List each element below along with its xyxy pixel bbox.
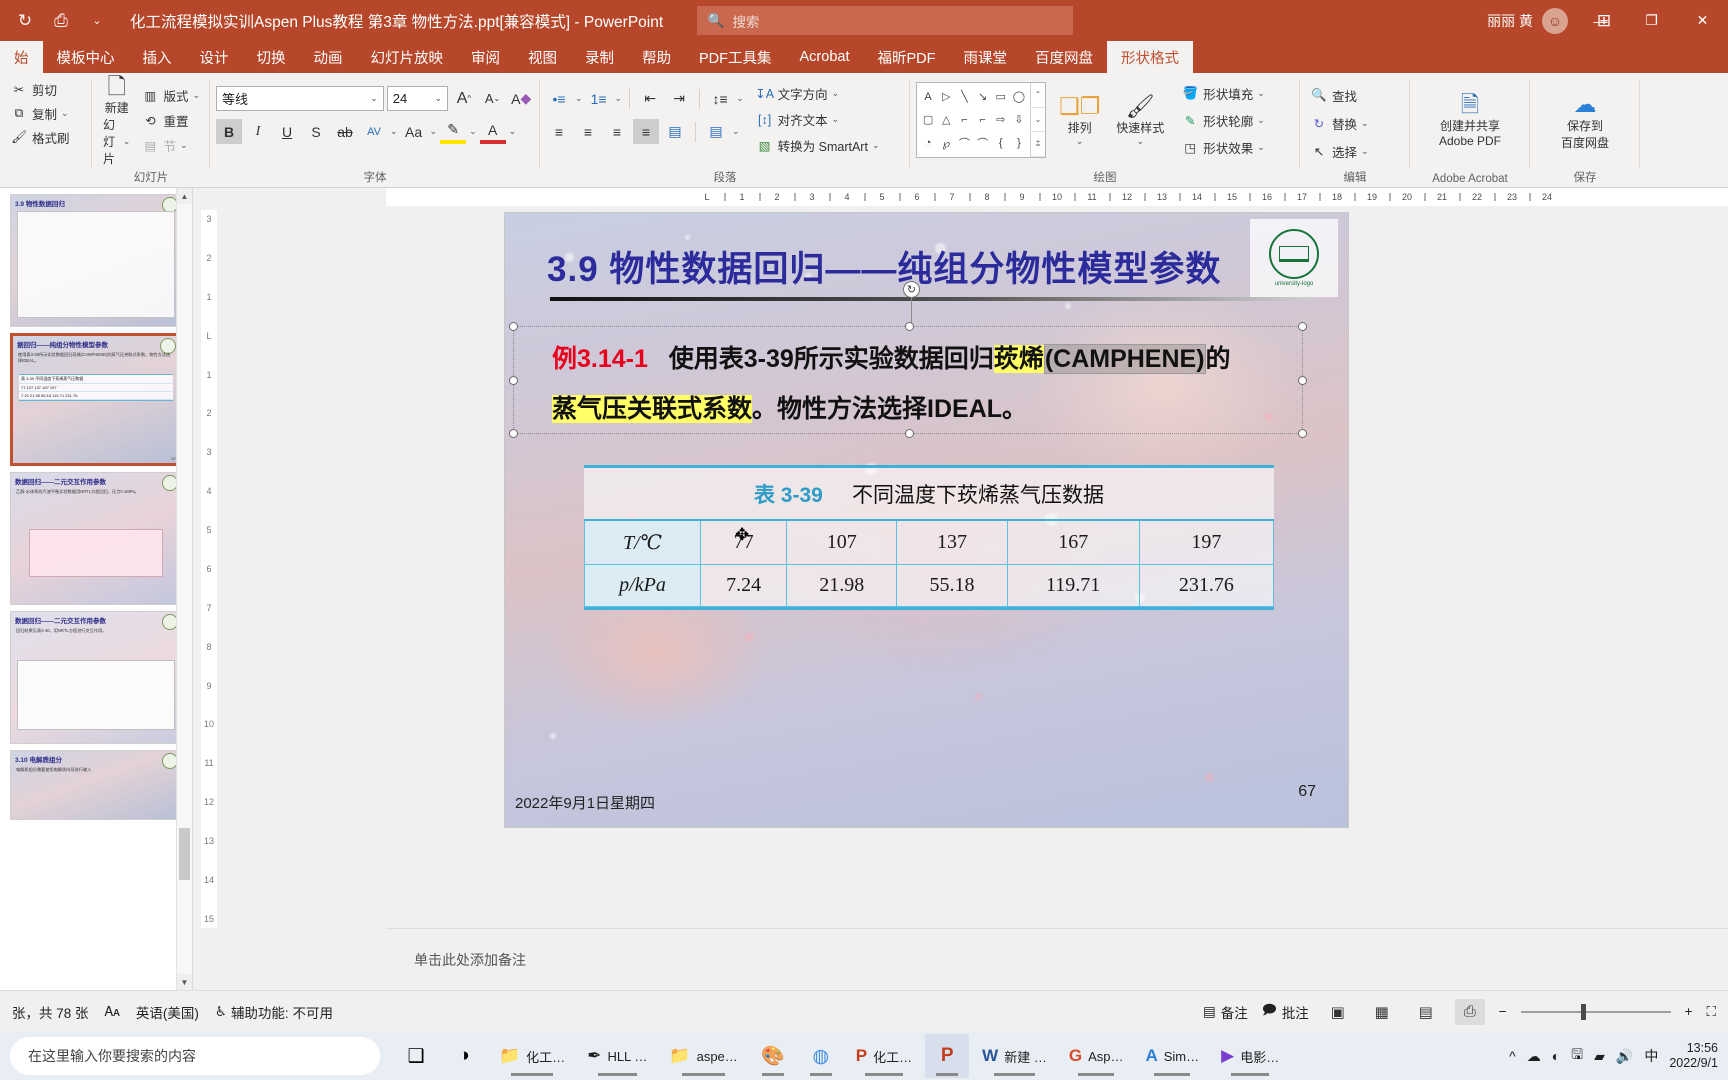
adobe-line-1: 创建并共享 bbox=[1440, 117, 1500, 134]
cloud-save-icon: ☁ bbox=[1574, 92, 1597, 117]
shape-curve[interactable]: ⌒ bbox=[973, 132, 991, 155]
word-doc[interactable]: W 新建 … bbox=[973, 1034, 1056, 1078]
workspace: 3.9 物性数据回归 据回归——纯组分物性模型参数 使用表3-39所示实验数据回… bbox=[0, 188, 1728, 990]
chevron-down-icon[interactable]: ⌄ bbox=[575, 93, 583, 104]
chevron-down-icon[interactable]: ⌄ bbox=[192, 90, 200, 101]
vapor-pressure-table[interactable]: 表 3-39 不同温度下莰烯蒸气压数据 T/℃ 77 107 137 167 1… bbox=[584, 465, 1274, 610]
thumb-title: 3.9 物性数据回归 bbox=[15, 198, 65, 208]
new-slide-label-2: 幻灯片 bbox=[103, 116, 121, 167]
format-painter-label: 格式刷 bbox=[32, 128, 70, 147]
tab-transitions[interactable]: 切换 bbox=[243, 41, 300, 73]
taskbar-label: aspe… bbox=[697, 1049, 738, 1064]
view-slide-sorter[interactable]: ▦ bbox=[1367, 999, 1397, 1025]
shape-arrow-textbox[interactable]: ▷ bbox=[937, 85, 955, 108]
find-label: 查找 bbox=[1332, 86, 1357, 105]
logo-caption: university-logo bbox=[1275, 281, 1314, 287]
group-label-drawing: 绘图 bbox=[916, 169, 1294, 188]
tab-record[interactable]: 录制 bbox=[571, 41, 628, 73]
scrollbar-thumb[interactable] bbox=[179, 828, 190, 880]
comment-icon: 🗩 bbox=[1262, 1000, 1277, 1023]
taskbar-search-placeholder: 在这里输入你要搜索的内容 bbox=[28, 1046, 196, 1066]
chevron-down-icon[interactable]: ⌄ bbox=[832, 114, 840, 125]
shape-triangle[interactable]: △ bbox=[937, 108, 955, 131]
chevron-down-icon[interactable]: ⌄ bbox=[615, 93, 623, 104]
resize-handle-bc[interactable] bbox=[905, 429, 914, 438]
resize-handle-tr[interactable] bbox=[1298, 322, 1307, 331]
comments-button[interactable]: 🗩 批注 bbox=[1262, 1000, 1309, 1023]
gallery-scroll-up-icon[interactable]: ⌃ bbox=[1031, 83, 1045, 108]
aspen-plus[interactable]: G Asp… bbox=[1060, 1034, 1133, 1078]
clock-time: 13:56 bbox=[1669, 1041, 1718, 1056]
usb-icon[interactable]: 🖫 bbox=[1571, 1044, 1583, 1068]
layout-icon: ▥ bbox=[141, 86, 159, 104]
arrange-label: 排列 bbox=[1068, 119, 1092, 136]
tab-shape-format[interactable]: 形状格式 bbox=[1107, 41, 1193, 73]
text-shadow-button[interactable]: S bbox=[303, 119, 329, 144]
align-center-button[interactable]: ≡ bbox=[575, 119, 601, 144]
avatar[interactable]: ☺ bbox=[1542, 8, 1568, 34]
taskbar-items: ❑ ◑ 📁 化工… ✒ HLL … 📁 aspe… 🎨 ◍ P 化工… P W … bbox=[394, 1034, 1288, 1078]
shape-rectangle[interactable]: ▭ bbox=[992, 85, 1010, 108]
svg-text:20: 20 bbox=[1402, 192, 1412, 202]
section-button[interactable]: ▤ 节 ⌄ bbox=[137, 134, 204, 157]
resize-handle-tl[interactable] bbox=[509, 322, 518, 331]
find-button[interactable]: 🔍 查找 bbox=[1306, 84, 1404, 107]
increase-indent-button[interactable]: ⇥ bbox=[666, 86, 692, 111]
svg-text:9: 9 bbox=[1019, 192, 1024, 202]
align-text-label: 对齐文本 bbox=[778, 110, 828, 129]
slide-canvas[interactable]: 3.9 物性数据回归——纯组分物性模型参数 university-logo ↻ bbox=[504, 212, 1349, 828]
proofing-icon[interactable]: 🗛 bbox=[105, 1004, 120, 1020]
group-label-save: 保存 bbox=[1536, 169, 1634, 188]
chevron-down-icon[interactable]: ⌄ bbox=[1136, 136, 1144, 147]
scissors-icon: ✂ bbox=[10, 81, 28, 99]
text-highlight-button[interactable]: ✎ bbox=[440, 119, 466, 144]
svg-text:24: 24 bbox=[1542, 192, 1552, 202]
explorer-aspe[interactable]: 📁 aspe… bbox=[660, 1034, 746, 1078]
thumbnail-scrollbar[interactable]: ▲ ▼ bbox=[176, 188, 192, 990]
reset-label: 重置 bbox=[163, 111, 188, 130]
align-text-button[interactable]: [↕] 对齐文本 ⌄ bbox=[752, 108, 884, 131]
shape-left-brace[interactable]: { bbox=[992, 132, 1010, 155]
align-left-button[interactable]: ≡ bbox=[546, 119, 572, 144]
university-logo: university-logo bbox=[1250, 219, 1338, 297]
account-area[interactable]: 丽丽 黄 ☺ bbox=[1487, 0, 1568, 41]
columns-button[interactable]: ▤ bbox=[703, 119, 729, 144]
slide-thumbnail-1[interactable]: 3.9 物性数据回归 bbox=[10, 194, 182, 327]
table-caption-text: 不同温度下莰烯蒸气压数据 bbox=[852, 484, 1104, 507]
slide-title[interactable]: 3.9 物性数据回归——纯组分物性模型参数 bbox=[547, 241, 1221, 292]
view-normal[interactable]: ▣ bbox=[1323, 999, 1353, 1025]
scroll-down-icon[interactable]: ▼ bbox=[177, 974, 192, 990]
tab-view[interactable]: 视图 bbox=[514, 41, 571, 73]
chevron-down-icon[interactable]: ⌄ bbox=[1257, 115, 1265, 126]
resize-handle-bl[interactable] bbox=[509, 429, 518, 438]
tab-template-center[interactable]: 模板中心 bbox=[43, 41, 129, 73]
zoom-in-button[interactable]: + bbox=[1685, 1004, 1693, 1019]
tab-pdf-toolkit[interactable]: PDF工具集 bbox=[685, 41, 786, 73]
autosave-icon[interactable]: ↻ bbox=[14, 10, 36, 32]
cell-p-2: 21.98 bbox=[787, 565, 897, 607]
font-name-value: 等线 bbox=[222, 89, 248, 108]
tab-review[interactable]: 审阅 bbox=[457, 41, 514, 73]
chevron-down-icon[interactable]: ⌄ bbox=[872, 140, 880, 151]
fit-slide-icon[interactable]: ⛶ bbox=[1707, 1004, 1716, 1020]
search-box[interactable]: 🔍 搜索 bbox=[697, 6, 1073, 35]
thumb-body: 电解质组分需要使用电解质向导进行输入 bbox=[16, 767, 176, 773]
slide-thumbnail-pane[interactable]: 3.9 物性数据回归 据回归——纯组分物性模型参数 使用表3-39所示实验数据回… bbox=[0, 188, 193, 990]
customize-qat-icon[interactable]: ⌄ bbox=[86, 10, 108, 32]
shape-arrow[interactable]: ↘ bbox=[973, 85, 991, 108]
format-painter-button[interactable]: 🖌 格式刷 bbox=[6, 126, 74, 149]
chrome-browser[interactable]: ◍ bbox=[799, 1034, 843, 1078]
slide-thumbnail-5[interactable]: 3.10 电解质组分 电解质组分需要使用电解质向导进行输入 bbox=[10, 750, 182, 820]
create-share-pdf-button[interactable]: 🗎 创建并共享 Adobe PDF bbox=[1416, 90, 1524, 150]
hll-window[interactable]: ✒ HLL … bbox=[578, 1034, 656, 1078]
svg-text:19: 19 bbox=[1367, 192, 1377, 202]
quick-styles-icon: 🖌 bbox=[1126, 94, 1155, 119]
search-icon: 🔍 bbox=[707, 12, 724, 29]
ribbon: ✂ 剪切 ⧉ 复制 ⌄ 🖌 格式刷 🗋 新建 幻灯片 ⌄ bbox=[0, 73, 1728, 188]
resize-handle-ml[interactable] bbox=[509, 376, 518, 385]
notes-label: 备注 bbox=[1221, 1002, 1248, 1022]
chevron-down-icon[interactable]: ⌄ bbox=[180, 140, 188, 151]
video-icon: ▶ bbox=[1221, 1046, 1234, 1066]
cell-p-3: 55.18 bbox=[897, 565, 1007, 607]
text-direction-label: 文字方向 bbox=[778, 84, 828, 103]
shape-scribble[interactable]: ℘ bbox=[937, 132, 955, 155]
title-underline-rule bbox=[550, 297, 1310, 301]
convert-smartart-button[interactable]: ▧ 转换为 SmartArt ⌄ bbox=[752, 134, 884, 157]
search-input[interactable]: 搜索 bbox=[732, 11, 759, 31]
cell-p-4: 119.71 bbox=[1007, 565, 1139, 607]
logo-ring-icon bbox=[1269, 229, 1319, 279]
chevron-down-icon[interactable]: ⌄ bbox=[832, 88, 840, 99]
show-hidden-icons[interactable]: ^ bbox=[1509, 1048, 1516, 1064]
shape-effects-label: 形状效果 bbox=[1203, 138, 1253, 157]
shield-icon[interactable]: ◐ bbox=[1552, 1048, 1560, 1064]
notes-button[interactable]: ▤ 备注 bbox=[1203, 1002, 1248, 1022]
italic-button[interactable]: I bbox=[245, 119, 271, 144]
chevron-down-icon[interactable]: ⌄ bbox=[430, 126, 438, 137]
tab-acrobat[interactable]: Acrobat bbox=[786, 41, 864, 73]
title-bar: ↻ ⎙ ⌄ 化工流程模拟实训Aspen Plus教程 第3章 物性方法.ppt[… bbox=[0, 0, 1728, 41]
search-icon: 🔍 bbox=[1310, 87, 1328, 105]
select-label: 选择 bbox=[1332, 142, 1357, 161]
slide-date: 2022年9月1日星期四 bbox=[515, 792, 655, 813]
taskbar-label: 化工… bbox=[526, 1047, 565, 1066]
ribbon-group-adobe: 🗎 创建并共享 Adobe PDF Adobe Acrobat bbox=[1410, 73, 1530, 188]
copy-label: 复制 bbox=[32, 104, 57, 123]
tab-insert[interactable]: 插入 bbox=[129, 41, 186, 73]
present-icon[interactable]: ⎙ bbox=[50, 10, 72, 32]
chevron-down-icon[interactable]: ⌄ bbox=[61, 108, 69, 119]
taskbar-label: 电影… bbox=[1240, 1047, 1279, 1066]
cortana-button[interactable]: ◑ bbox=[442, 1034, 486, 1078]
chevron-down-icon[interactable]: ⌄ bbox=[390, 126, 398, 137]
folder-icon: 📁 bbox=[499, 1046, 520, 1066]
table-caption: 表 3-39 不同温度下莰烯蒸气压数据 bbox=[584, 468, 1274, 519]
gallery-scroll-down-icon[interactable]: ⌄ bbox=[1031, 108, 1045, 133]
chevron-down-icon[interactable]: ⌄ bbox=[732, 126, 740, 137]
minimize-button[interactable]: — bbox=[1575, 0, 1626, 41]
cut-label: 剪切 bbox=[32, 80, 57, 99]
line-spacing-button[interactable]: ↕≡ bbox=[707, 86, 733, 111]
new-slide-icon: 🗋 bbox=[107, 74, 126, 99]
shape-elbow-connector[interactable]: ⌐ bbox=[955, 108, 973, 131]
accessibility-status[interactable]: ♿ 辅助功能: 不可用 bbox=[215, 1002, 333, 1022]
font-size-value: 24 bbox=[393, 91, 407, 106]
restore-button[interactable]: ❐ bbox=[1626, 0, 1677, 41]
ime-icon[interactable]: 中 bbox=[1644, 1046, 1658, 1066]
language-label[interactable]: 英语(美国) bbox=[136, 1002, 199, 1022]
example-line2-highlight: 蒸气压关联式系数 bbox=[552, 395, 752, 423]
chevron-down-icon[interactable]: ⌄ bbox=[736, 93, 744, 104]
ribbon-group-save: ☁ 保存到 百度网盘 保存 bbox=[1530, 73, 1640, 188]
ribbon-group-font: 等线 ⌄ 24 ⌄ A^ A⌄ A◆ B I U S ab AV ⌄ Aa bbox=[210, 73, 540, 188]
network-icon[interactable]: ▰ bbox=[1594, 1048, 1605, 1065]
new-slide-button[interactable]: 🗋 新建 幻灯片 ⌄ bbox=[98, 72, 135, 169]
group-label-font: 字体 bbox=[216, 169, 534, 188]
taskview-button[interactable]: ❑ bbox=[394, 1034, 438, 1078]
tab-foxit-pdf[interactable]: 福昕PDF bbox=[863, 41, 949, 73]
slide-count-label[interactable]: 张，共 78 张 bbox=[12, 1002, 89, 1022]
thumb-title: 数据回归——二元交互作用参数 bbox=[15, 476, 106, 486]
svg-text:22: 22 bbox=[1472, 192, 1482, 202]
clear-formatting-button[interactable]: A◆ bbox=[508, 86, 534, 111]
status-left: 张，共 78 张 🗛 英语(美国) ♿ 辅助功能: 不可用 bbox=[0, 1002, 333, 1022]
word-icon: W bbox=[982, 1046, 998, 1066]
resize-handle-mr[interactable] bbox=[1298, 376, 1307, 385]
gallery-more-icon[interactable]: ⩲ bbox=[1031, 132, 1045, 157]
chevron-down-icon[interactable]: ⌄ bbox=[1076, 136, 1084, 147]
horizontal-ruler-ticks: L 123 456 789 101112 131415 161718 19202… bbox=[386, 188, 1728, 206]
aspen-simulation[interactable]: A Sim… bbox=[1136, 1034, 1208, 1078]
cloud-icon[interactable]: ☁ bbox=[1527, 1048, 1541, 1065]
quick-styles-label: 快速样式 bbox=[1116, 119, 1164, 136]
slide-number: 67 bbox=[1298, 783, 1316, 801]
shape-rounded-rect[interactable]: ▢ bbox=[919, 108, 937, 131]
shape-textbox[interactable]: A bbox=[919, 85, 937, 108]
chevron-down-icon[interactable]: ⌄ bbox=[509, 126, 517, 137]
chevron-down-icon[interactable]: ⌄ bbox=[435, 93, 443, 104]
layout-button[interactable]: ▥ 版式 ⌄ bbox=[137, 84, 204, 107]
pdf-share-icon: 🗎 bbox=[1461, 92, 1480, 117]
shape-arc[interactable]: ⌒ bbox=[955, 132, 973, 155]
shape-effects-button[interactable]: ◳ 形状效果 ⌄ bbox=[1177, 136, 1269, 159]
paint-app[interactable]: 🎨 bbox=[751, 1034, 795, 1078]
cut-button[interactable]: ✂ 剪切 bbox=[6, 78, 74, 101]
horizontal-ruler[interactable]: L 123 456 789 101112 131415 161718 19202… bbox=[386, 188, 1728, 206]
ribbon-tabs: 始 模板中心 插入 设计 切换 动画 幻灯片放映 审阅 视图 录制 帮助 PDF… bbox=[0, 41, 1728, 73]
user-name: 丽丽 黄 bbox=[1487, 11, 1533, 31]
change-case-button[interactable]: Aa bbox=[401, 119, 427, 144]
close-button[interactable]: ✕ bbox=[1677, 0, 1728, 41]
row-header-temperature: T/℃ bbox=[585, 520, 701, 565]
powerpoint-active[interactable]: P bbox=[925, 1034, 969, 1078]
replace-button[interactable]: ↻ 替换 ⌄ bbox=[1306, 112, 1404, 135]
example-line2-tail: 。物性方法选择IDEAL。 bbox=[752, 395, 1027, 423]
slide-thumbnail-2[interactable]: 据回归——纯组分物性模型参数 使用表3-39所示实验数据回归莰烯(CAMPHEN… bbox=[10, 333, 182, 466]
reset-button[interactable]: ⟲ 重置 bbox=[137, 109, 204, 132]
text-direction-button[interactable]: ↧A 文字方向 ⌄ bbox=[752, 82, 884, 105]
svg-text:14: 14 bbox=[1192, 192, 1202, 202]
character-spacing-button[interactable]: AV bbox=[361, 119, 387, 144]
shape-freeform[interactable]: ◔ bbox=[919, 132, 937, 155]
resize-handle-br[interactable] bbox=[1298, 429, 1307, 438]
cell-t-2: 107 bbox=[787, 520, 897, 565]
svg-text:21: 21 bbox=[1437, 192, 1447, 202]
svg-text:11: 11 bbox=[1087, 192, 1096, 202]
accessibility-icon: ♿ bbox=[215, 1004, 227, 1020]
vertical-ruler[interactable]: 321L12 345678 9101112131415 bbox=[201, 210, 217, 928]
tab-animations[interactable]: 动画 bbox=[300, 41, 357, 73]
table-number: 表 3-39 bbox=[754, 484, 823, 507]
shapes-gallery[interactable]: A ▷ ╲ ↘ ▭ ◯ ▢ △ ⌐ ⌐ ⇨ ⇩ ◔ ℘ ⌒ ⌒ { bbox=[916, 82, 1046, 158]
justify-button[interactable]: ≡ bbox=[633, 119, 659, 144]
bold-button[interactable]: B bbox=[216, 119, 242, 144]
ribbon-group-editing: 🔍 查找 ↻ 替换 ⌄ ↖ 选择 ⌄ 编辑 bbox=[1300, 73, 1410, 188]
shape-down-arrow[interactable]: ⇩ bbox=[1010, 108, 1028, 131]
example-line1-selection: (CAMPHENE) bbox=[1044, 344, 1206, 374]
tab-slideshow[interactable]: 幻灯片放映 bbox=[357, 41, 458, 73]
chevron-down-icon[interactable]: ⌄ bbox=[370, 93, 378, 104]
folder-icon: 📁 bbox=[669, 1046, 690, 1066]
shrink-font-button[interactable]: A⌄ bbox=[480, 86, 506, 111]
rotation-handle[interactable]: ↻ bbox=[903, 281, 920, 298]
volume-icon[interactable]: 🔊 bbox=[1616, 1048, 1633, 1065]
chevron-down-icon[interactable]: ⌄ bbox=[1361, 118, 1369, 129]
svg-text:17: 17 bbox=[1297, 192, 1307, 202]
svg-text:L: L bbox=[704, 192, 709, 202]
example-line-2: 蒸气压关联式系数。物性方法选择IDEAL。 bbox=[552, 389, 1027, 425]
powerpoint-doc[interactable]: P 化工… bbox=[847, 1034, 921, 1078]
example-textbox[interactable]: 例3.14-1 使用表3-39所示实验数据回归莰烯(CAMPHENE)的 蒸气压… bbox=[513, 326, 1303, 434]
align-text-icon: [↕] bbox=[756, 111, 774, 129]
chevron-down-icon[interactable]: ⌄ bbox=[1361, 146, 1369, 157]
cell-p-1: 7.24 bbox=[701, 565, 787, 607]
svg-text:1: 1 bbox=[739, 192, 744, 202]
resize-handle-tc[interactable] bbox=[905, 322, 914, 331]
quick-styles-button[interactable]: 🖌 快速样式 ⌄ bbox=[1111, 92, 1169, 149]
tab-baidu-netdisk[interactable]: 百度网盘 bbox=[1021, 41, 1107, 73]
clock[interactable]: 13:56 2022/9/1 bbox=[1669, 1041, 1718, 1071]
tab-design[interactable]: 设计 bbox=[186, 41, 243, 73]
shape-elbow-arrow[interactable]: ⌐ bbox=[973, 108, 991, 131]
tab-rain-classroom[interactable]: 雨课堂 bbox=[949, 41, 1021, 73]
cell-t-5: 197 bbox=[1139, 520, 1273, 565]
shape-outline-button[interactable]: ✎ 形状轮廓 ⌄ bbox=[1177, 109, 1269, 132]
scroll-up-icon[interactable]: ▲ bbox=[177, 188, 192, 204]
row-header-pressure: p/kPa bbox=[585, 565, 701, 607]
example-line1-text: 使用表3-39所示实验数据回归 bbox=[669, 345, 994, 373]
chevron-down-icon[interactable]: ⌄ bbox=[1257, 88, 1265, 99]
shape-right-brace[interactable]: } bbox=[1010, 132, 1028, 155]
underline-button[interactable]: U bbox=[274, 119, 300, 144]
taskbar-search-box[interactable]: 在这里输入你要搜索的内容 bbox=[10, 1037, 380, 1075]
svg-text:12: 12 bbox=[1122, 192, 1132, 202]
svg-text:5: 5 bbox=[879, 192, 884, 202]
clock-date: 2022/9/1 bbox=[1669, 1056, 1718, 1071]
slide-thumbnail-3[interactable]: 数据回归——二元交互作用参数 乙醇-水体系的汽液平衡实验数据用NRTL方程回归，… bbox=[10, 472, 182, 605]
save-line-1: 保存到 bbox=[1567, 117, 1603, 134]
aspen-sim-icon: A bbox=[1145, 1046, 1157, 1066]
video-player[interactable]: ▶ 电影… bbox=[1212, 1034, 1288, 1078]
replace-label: 替换 bbox=[1332, 114, 1357, 133]
explorer-chemeng[interactable]: 📁 化工… bbox=[490, 1034, 574, 1078]
mouse-cursor-icon: ✥ bbox=[735, 525, 749, 545]
cursor-arrow-icon: ↖ bbox=[1310, 143, 1328, 161]
decrease-indent-button[interactable]: ⇤ bbox=[637, 86, 663, 111]
font-name-combo[interactable]: 等线 ⌄ bbox=[216, 86, 384, 111]
shapes-gallery-scroll[interactable]: ⌃ ⌄ ⩲ bbox=[1030, 83, 1045, 157]
accessibility-label: 辅助功能: 不可用 bbox=[231, 1002, 333, 1022]
zoom-slider-thumb[interactable] bbox=[1581, 1004, 1586, 1020]
strikethrough-button[interactable]: ab bbox=[332, 119, 358, 144]
font-color-button[interactable]: A bbox=[480, 119, 506, 144]
view-slideshow[interactable]: ⎙ bbox=[1455, 999, 1485, 1025]
copy-button[interactable]: ⧉ 复制 ⌄ bbox=[6, 102, 74, 125]
chevron-down-icon[interactable]: ⌄ bbox=[123, 136, 131, 147]
new-slide-label-1: 新建 bbox=[105, 99, 129, 116]
thumb-body: 回归结果见表3-40，用NRTL方程进行交互作用。 bbox=[16, 628, 176, 634]
copy-icon: ⧉ bbox=[10, 105, 28, 123]
chevron-down-icon[interactable]: ⌄ bbox=[469, 126, 477, 137]
pen-icon: ✒ bbox=[587, 1046, 601, 1066]
taskbar-label: 化工… bbox=[873, 1047, 912, 1066]
view-reading[interactable]: ▤ bbox=[1411, 999, 1441, 1025]
ribbon-group-clipboard: ✂ 剪切 ⧉ 复制 ⌄ 🖌 格式刷 bbox=[0, 73, 92, 188]
zoom-out-button[interactable]: − bbox=[1499, 1004, 1507, 1019]
svg-text:23: 23 bbox=[1507, 192, 1517, 202]
font-size-combo[interactable]: 24 ⌄ bbox=[387, 86, 448, 111]
window-title: 化工流程模拟实训Aspen Plus教程 第3章 物性方法.ppt[兼容模式] … bbox=[130, 10, 663, 32]
select-button[interactable]: ↖ 选择 ⌄ bbox=[1306, 140, 1404, 163]
slide-thumbnail-4[interactable]: 数据回归——二元交互作用参数 回归结果见表3-40，用NRTL方程进行交互作用。 bbox=[10, 611, 182, 744]
zoom-slider[interactable] bbox=[1521, 1011, 1671, 1013]
tab-help[interactable]: 帮助 bbox=[628, 41, 685, 73]
tab-home[interactable]: 始 bbox=[0, 41, 43, 73]
align-right-button[interactable]: ≡ bbox=[604, 119, 630, 144]
save-to-netdisk-button[interactable]: ☁ 保存到 百度网盘 bbox=[1536, 90, 1634, 153]
ribbon-group-slides: 🗋 新建 幻灯片 ⌄ ▥ 版式 ⌄ ⟲ 重置 ▤ bbox=[92, 73, 210, 188]
adobe-line-2: Adobe PDF bbox=[1439, 134, 1501, 148]
distribute-button[interactable]: ▤ bbox=[662, 119, 688, 144]
system-tray: ^ ☁ ◐ 🖫 ▰ 🔊 中 13:56 2022/9/1 bbox=[1509, 1041, 1728, 1071]
taskbar-label: Sim… bbox=[1164, 1049, 1199, 1064]
comments-label: 批注 bbox=[1282, 1002, 1309, 1022]
notes-pane[interactable]: 单击此处添加备注 bbox=[386, 928, 1728, 990]
cell-t-3: 137 bbox=[897, 520, 1007, 565]
svg-text:15: 15 bbox=[1227, 192, 1237, 202]
grow-font-button[interactable]: A^ bbox=[451, 86, 477, 111]
aspen-icon: G bbox=[1069, 1046, 1082, 1066]
taskbar-label: HLL … bbox=[607, 1049, 647, 1064]
shape-line[interactable]: ╲ bbox=[955, 85, 973, 108]
numbering-button[interactable]: 1≡ bbox=[586, 86, 612, 111]
shape-oval[interactable]: ◯ bbox=[1010, 85, 1028, 108]
arrange-button[interactable]: ❑❐ 排列 ⌄ bbox=[1054, 92, 1105, 149]
notes-icon: ▤ bbox=[1203, 1004, 1216, 1020]
group-label-slides: 幻灯片 bbox=[98, 169, 204, 188]
thumb-body: 使用表3-39所示实验数据回归莰烯(CAMPHENE)的蒸气压关联式系数。物性方… bbox=[18, 352, 174, 364]
chevron-down-icon[interactable]: ⌄ bbox=[1257, 142, 1265, 153]
shape-fill-button[interactable]: 🪣 形状填充 ⌄ bbox=[1177, 82, 1269, 105]
shape-right-arrow[interactable]: ⇨ bbox=[992, 108, 1010, 131]
bullets-button[interactable]: •≡ bbox=[546, 86, 572, 111]
shape-outline-label: 形状轮廓 bbox=[1203, 111, 1253, 130]
quick-access-toolbar[interactable]: ↻ ⎙ ⌄ bbox=[0, 10, 108, 32]
